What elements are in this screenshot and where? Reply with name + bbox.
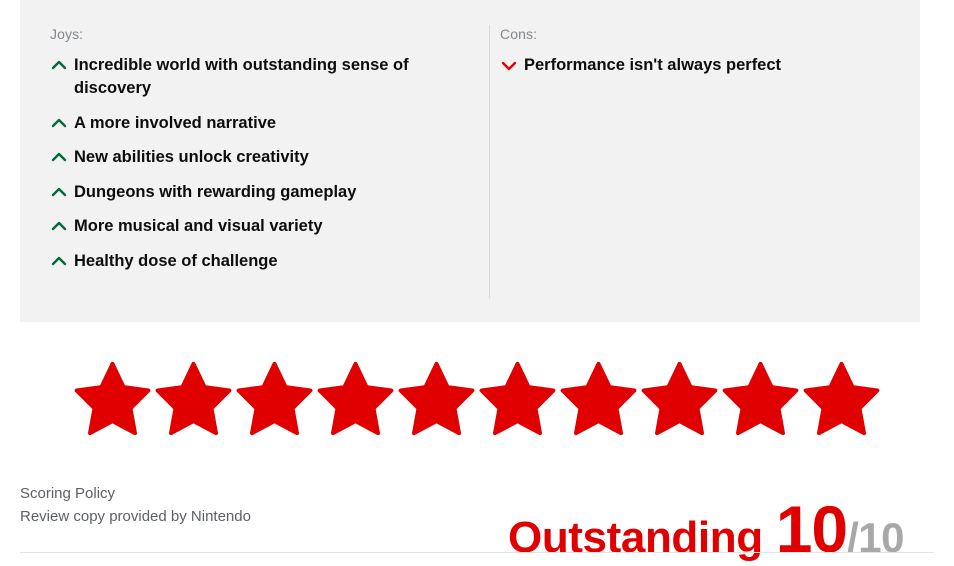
star-icon	[639, 360, 720, 437]
bottom-divider	[20, 552, 934, 553]
cons-column: Cons: Performance isn't always perfect	[469, 0, 920, 322]
list-item: New abilities unlock creativity	[50, 146, 439, 169]
joys-item-text: Dungeons with rewarding gameplay	[74, 181, 356, 204]
scoring-meta: Scoring Policy Review copy provided by N…	[20, 483, 251, 528]
joys-item-text: More musical and visual variety	[74, 215, 323, 238]
chevron-up-icon	[50, 251, 68, 273]
star-icon	[558, 360, 639, 437]
review-footer: Scoring Policy Review copy provided by N…	[0, 444, 954, 558]
joys-item-text: Healthy dose of challenge	[74, 250, 278, 273]
chevron-up-icon	[50, 55, 68, 77]
joys-list: Incredible world with outstanding sense …	[50, 54, 439, 273]
star-icon	[396, 360, 477, 437]
cons-heading: Cons:	[500, 26, 890, 42]
star-icon	[315, 360, 396, 437]
chevron-down-icon	[500, 55, 518, 77]
joys-item-text: Incredible world with outstanding sense …	[74, 54, 439, 101]
joys-item-text: New abilities unlock creativity	[74, 146, 309, 169]
pros-cons-panel: Joys: Incredible world with outstanding …	[20, 0, 920, 322]
star-icon	[72, 360, 153, 437]
chevron-up-icon	[50, 182, 68, 204]
score-block: Outstanding 10 /10	[508, 444, 904, 510]
list-item: Healthy dose of challenge	[50, 250, 439, 273]
joys-column: Joys: Incredible world with outstanding …	[20, 0, 469, 322]
list-item: Dungeons with rewarding gameplay	[50, 181, 439, 204]
joys-heading: Joys:	[50, 26, 439, 42]
score-verdict: Outstanding	[508, 516, 763, 560]
list-item: Performance isn't always perfect	[500, 54, 890, 77]
review-copy-note: Review copy provided by Nintendo	[20, 506, 251, 529]
star-rating	[0, 352, 954, 444]
list-item: More musical and visual variety	[50, 215, 439, 238]
star-icon	[477, 360, 558, 437]
star-icon	[153, 360, 234, 437]
cons-item-text: Performance isn't always perfect	[524, 54, 781, 77]
star-icon	[720, 360, 801, 437]
scoring-policy-link[interactable]: Scoring Policy	[20, 483, 251, 506]
cons-list: Performance isn't always perfect	[500, 54, 890, 77]
chevron-up-icon	[50, 147, 68, 169]
star-icon	[801, 360, 882, 437]
chevron-up-icon	[50, 216, 68, 238]
star-icon	[234, 360, 315, 437]
list-item: Incredible world with outstanding sense …	[50, 54, 439, 101]
chevron-up-icon	[50, 113, 68, 135]
list-item: A more involved narrative	[50, 112, 439, 135]
joys-item-text: A more involved narrative	[74, 112, 276, 135]
